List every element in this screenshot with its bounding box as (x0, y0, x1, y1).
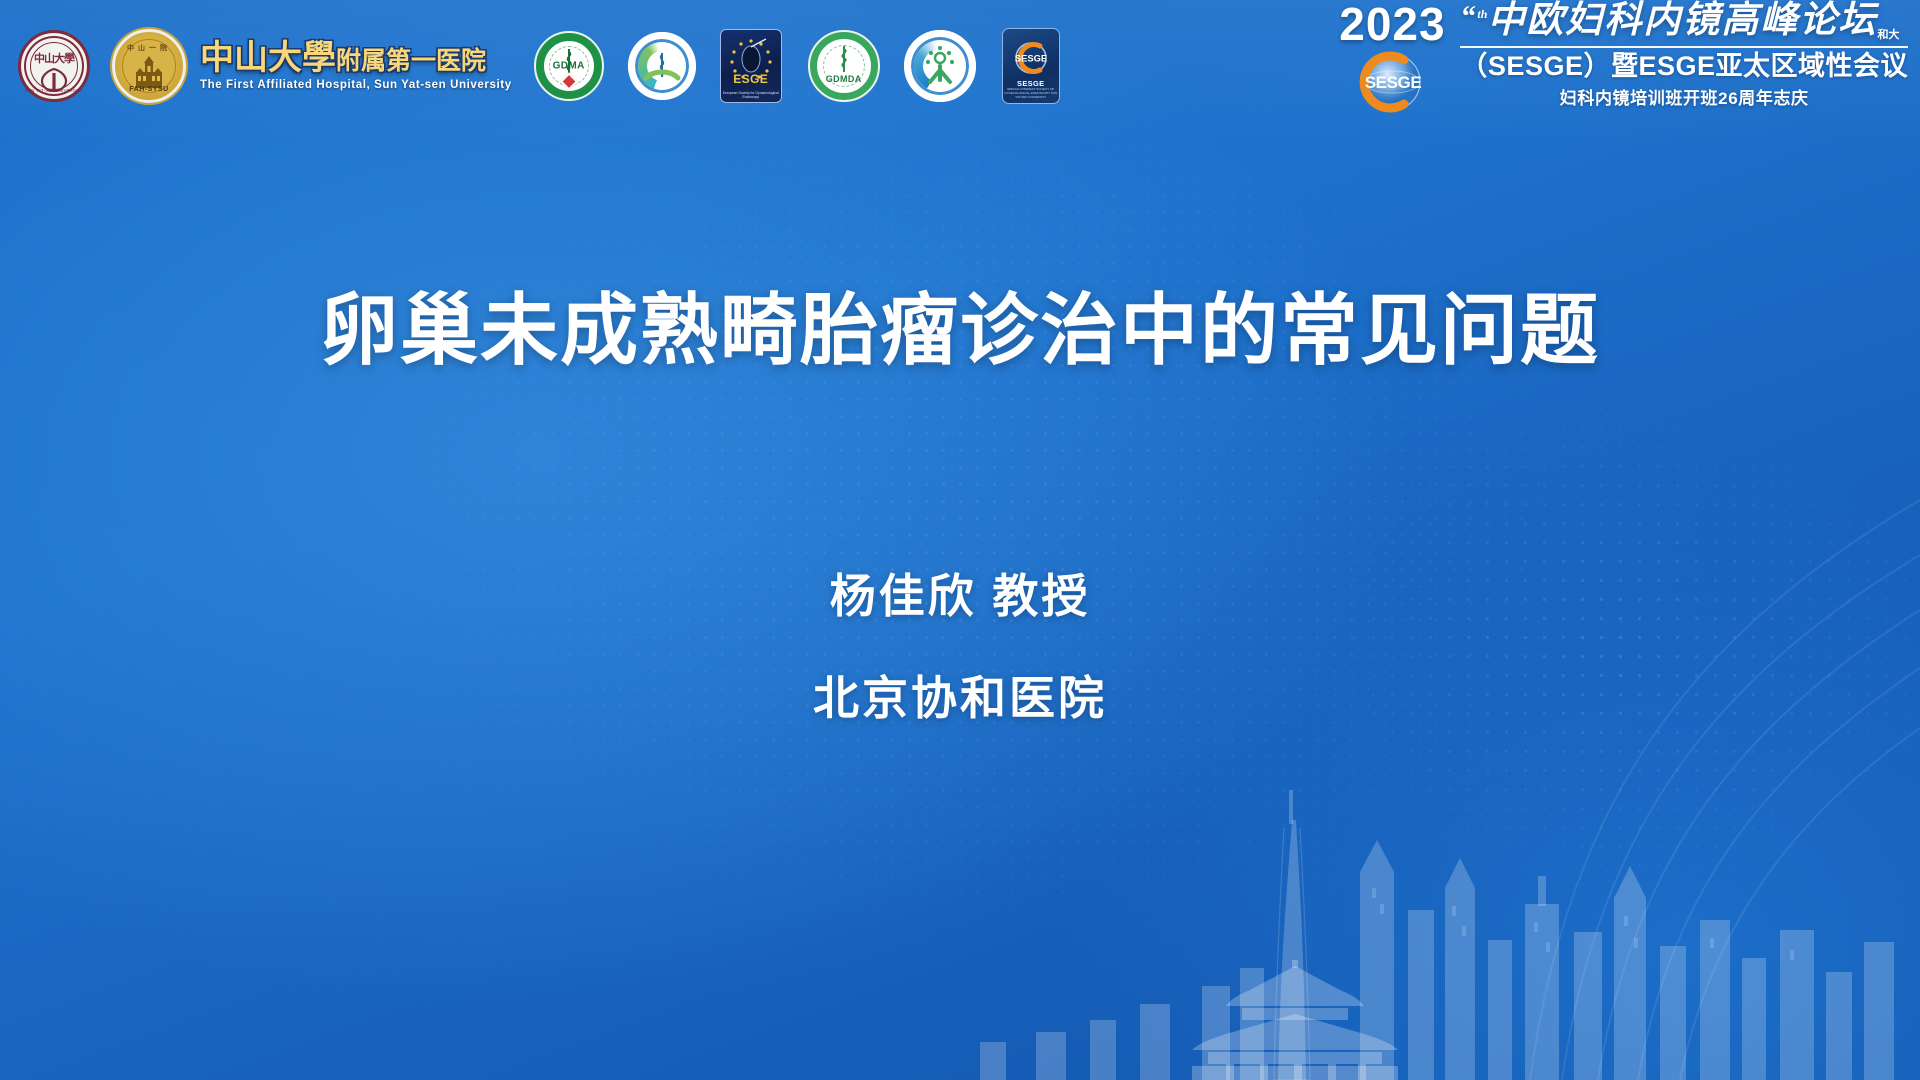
sesge-card: SESGE SESGE SPECIAL INTEREST SOCIETY OF … (1002, 28, 1060, 104)
calligraphy-superscript: th (1477, 7, 1487, 21)
wordmark-cn-sub: 附属第一医院 (336, 48, 486, 75)
gdmda-seal: GDMDA (808, 30, 880, 102)
gdhpa-seal (904, 30, 976, 102)
sesge-circular-mark: SESGE (1340, 45, 1444, 119)
gdhpa-person-flower-icon (904, 30, 976, 102)
sesge-card-subtitle: SPECIAL INTEREST SOCIETY OF GYNECOLOGICA… (1004, 88, 1058, 100)
gdma-seal: GDMA (534, 31, 604, 101)
esge-card: ESGE European Society for Gynaecological… (720, 29, 782, 103)
sysu-seal-cn: 中山大學 (21, 50, 87, 66)
logo-sesge-card: SESGE SESGE SPECIAL INTEREST SOCIETY OF … (1002, 28, 1060, 104)
conference-title-calligraphy: “th中欧妇科内镜高峰论坛和大 (1460, 2, 1908, 41)
logo-guangdong-health-association (628, 32, 696, 100)
gdma-abbr: GDMA (536, 61, 602, 72)
sysu-seal-en: SUN YAT-SEN UNIVERSITY (21, 88, 87, 93)
conference-year-block: 2023 SESGE (1328, 0, 1456, 119)
logo-first-affiliated-hospital: 中山一院 FAH-SYSU (112, 29, 186, 103)
sesge-mark-icon: SESGE (1340, 45, 1444, 119)
esge-abbr: ESGE (720, 72, 782, 86)
sysu-seal: 中山大學 SUN YAT-SEN UNIVERSITY (18, 30, 90, 102)
asclepius-rod-icon (835, 46, 853, 72)
gdha-symbol-icon (628, 32, 696, 100)
speaker-affiliation: 北京协和医院 (0, 662, 1920, 728)
logo-gdmda: GDMDA (808, 30, 880, 102)
logo-sun-yat-sen-university: 中山大學 SUN YAT-SEN UNIVERSITY (18, 30, 90, 102)
logo-gdma: GDMA (534, 31, 604, 101)
conference-year: 2023 (1328, 2, 1456, 47)
gdmda-abbr: GDMDA (810, 74, 878, 84)
page-title: 卵巢未成熟畸胎瘤诊治中的常见问题 (0, 268, 1920, 380)
gdha-seal (628, 32, 696, 100)
svg-text:SESGE: SESGE (1365, 73, 1422, 92)
calligraphy-signature: 和大 (1877, 29, 1899, 41)
fah-seal-cn: 中山一院 (115, 43, 183, 53)
wordmark-en-line: The First Affiliated Hospital, Sun Yat-s… (200, 79, 512, 91)
fah-seal-en: FAH-SYSU (115, 86, 183, 93)
logo-hospital-wordmark: 中山大學附属第一医院 The First Affiliated Hospital… (200, 41, 512, 91)
conference-subtitle-line: （SESGE）暨ESGE亚太区域性会议 (1460, 52, 1908, 80)
wordmark-cn-line: 中山大學附属第一医院 (200, 41, 512, 77)
traditional-pavilion-silhouette (1130, 960, 1460, 1080)
logo-esge: ESGE European Society for Gynaecological… (720, 29, 782, 103)
calligraphy-open-quote: “ (1460, 0, 1477, 33)
speaker-name: 杨佳欣 教授 (0, 560, 1920, 626)
conference-branding: 2023 SESGE (1328, 0, 1908, 138)
esge-subtitle: European Society for Gynaecological Endo… (722, 91, 780, 100)
wordmark-cn-main: 中山大學 (200, 40, 336, 77)
fah-sysu-seal: 中山一院 FAH-SYSU (112, 29, 186, 103)
calligraphy-title-text: 中欧妇科内镜高峰论坛 (1487, 0, 1877, 41)
hospital-building-icon (132, 56, 166, 90)
conference-title-block: “th中欧妇科内镜高峰论坛和大 （SESGE）暨ESGE亚太区域性会议 妇科内镜… (1456, 0, 1908, 109)
conference-anniversary-line: 妇科内镜培训班开班26周年志庆 (1460, 84, 1908, 109)
conference-divider-rule (1460, 46, 1908, 48)
logo-guangdong-health-promotion (904, 30, 976, 102)
presentation-slide: 中山大學 SUN YAT-SEN UNIVERSITY 中山一院 (0, 0, 1920, 1080)
svg-text:SESGE: SESGE (1015, 53, 1047, 64)
